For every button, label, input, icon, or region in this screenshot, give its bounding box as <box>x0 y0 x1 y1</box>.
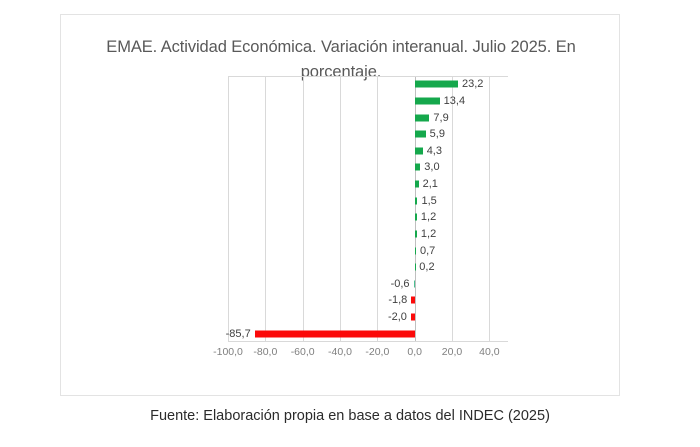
bar <box>415 114 430 121</box>
bar <box>415 197 418 204</box>
x-tick-label: -20,0 <box>365 346 389 358</box>
bar-row: Pesca-85,7 <box>228 325 508 342</box>
bar <box>415 247 416 254</box>
bar-value-label: 1,5 <box>421 195 436 207</box>
x-tick-label: -60,0 <box>291 346 315 358</box>
bar-row: Servicios sociales y de salud1,2 <box>228 209 508 226</box>
x-axis-tick-labels: -100,0-80,0-60,0-40,0-20,00,020,040,0 <box>228 346 508 366</box>
bar <box>415 164 421 171</box>
x-tick-label: -80,0 <box>253 346 277 358</box>
bar-row: Agricultura, ganadería, caza y silvicult… <box>228 242 508 259</box>
bar-value-label: 1,2 <box>421 211 436 223</box>
x-tick-label: 40,0 <box>479 346 499 358</box>
bar-row: Enseñanza1,2 <box>228 226 508 243</box>
bar-row: Hoteles y restaurantes5,9 <box>228 126 508 143</box>
bar-row: Transporte y comunicaciones1,5 <box>228 192 508 209</box>
bar <box>415 131 426 138</box>
bar-value-label: -85,7 <box>226 328 251 340</box>
bar <box>255 330 415 337</box>
bar <box>415 97 440 104</box>
bar-value-label: 2,1 <box>423 178 438 190</box>
bar-row: Explotación de minas y canteras13,4 <box>228 93 508 110</box>
bar-row: Construcción3,0 <box>228 159 508 176</box>
bar-value-label: 5,9 <box>430 128 445 140</box>
bar <box>414 280 415 287</box>
x-tick-label: 0,0 <box>407 346 422 358</box>
plot-area: Intermediación financiera23,2Explotación… <box>228 76 508 342</box>
bar <box>415 81 458 88</box>
bar-value-label: -1,8 <box>388 294 407 306</box>
bar <box>415 147 423 154</box>
bar-value-label: 3,0 <box>424 161 439 173</box>
bar-value-label: 4,3 <box>427 145 442 157</box>
x-tick-label: -100,0 <box>213 346 243 358</box>
bar-row: Electricidad, gas y agua-2,0 <box>228 309 508 326</box>
bar-row: Intermediación financiera23,2 <box>228 76 508 93</box>
bar <box>411 314 415 321</box>
bar-value-label: 0,7 <box>420 245 435 257</box>
bar-row: Administración pública y defensa; planes… <box>228 276 508 293</box>
bar-value-label: 1,2 <box>421 228 436 240</box>
screenshot-root: EMAE. Actividad Económica. Variación int… <box>0 0 700 447</box>
x-tick-label: -40,0 <box>328 346 352 358</box>
x-tick-label: 20,0 <box>442 346 462 358</box>
bar-row: Industria manufacturera-1,8 <box>228 292 508 309</box>
bar-value-label: 13,4 <box>444 95 465 107</box>
bar-value-label: -2,0 <box>388 311 407 323</box>
bar-row: Otras actividades de servicios…0,2 <box>228 259 508 276</box>
bar-row: Comercio mayorista, minorista y…2,1 <box>228 176 508 193</box>
bar <box>415 214 417 221</box>
bar <box>411 297 414 304</box>
bar-row: Actividades inmobiliarias, empresariales… <box>228 143 508 160</box>
bar <box>415 230 417 237</box>
bar <box>415 264 416 271</box>
bar-row: Impuestos netos de subsidios7,9 <box>228 109 508 126</box>
bar <box>415 181 419 188</box>
bar-value-label: 0,2 <box>419 261 434 273</box>
bar-value-label: 23,2 <box>462 78 483 90</box>
bar-value-label: 7,9 <box>433 112 448 124</box>
source-caption: Fuente: Elaboración propia en base a dat… <box>0 408 700 424</box>
bar-value-label: -0,6 <box>391 278 410 290</box>
